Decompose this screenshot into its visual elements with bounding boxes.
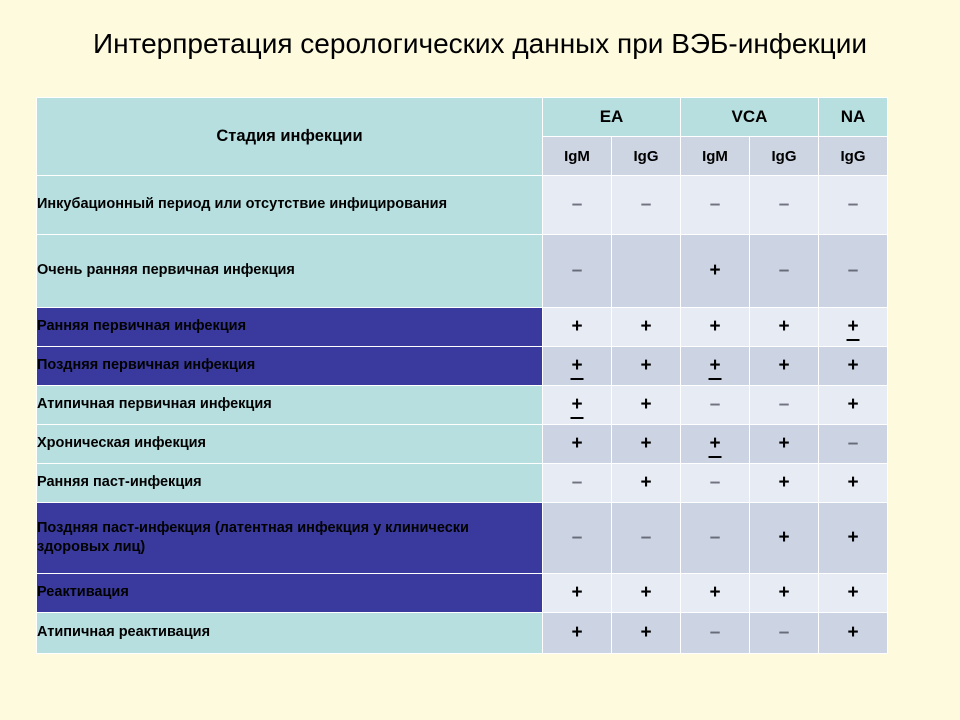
marker-plus-icon: + [640,356,651,375]
marker-plus-minus-icon: + [709,434,720,455]
marker-plus-icon: + [709,261,720,280]
marker-minus-icon: – [710,473,721,492]
marker-plus-icon: + [571,434,582,453]
marker-minus-icon: – [641,528,652,547]
result-cell: + [543,613,611,653]
row-label-stage: Хроническая инфекция [37,425,542,463]
result-cell: – [543,503,611,573]
marker-minus-icon: – [641,195,652,214]
row-label-stage: Очень ранняя первичная инфекция [37,235,542,307]
marker-plus-icon: + [640,434,651,453]
row-label-stage: Атипичная первичная инфекция [37,386,542,424]
table-row: Поздняя паст-инфекция (латентная инфекци… [37,503,887,573]
marker-plus-minus-icon: + [709,356,720,377]
marker-minus-icon: – [572,195,583,214]
marker-plus-icon: + [847,623,858,642]
marker-blank [646,275,647,276]
result-cell: + [819,613,887,653]
result-cell: + [612,464,680,502]
result-cell: + [819,308,887,346]
result-cell: – [750,386,818,424]
result-cell: – [681,386,749,424]
marker-plus-icon: + [847,473,858,492]
result-cell: – [681,176,749,234]
marker-plus-icon: + [640,623,651,642]
marker-plus-icon: + [778,434,789,453]
marker-minus-icon: – [572,473,583,492]
marker-plus-icon: + [640,395,651,414]
result-cell: + [681,235,749,307]
slide-root: Интерпретация серологических данных при … [0,0,960,720]
marker-minus-icon: – [710,195,721,214]
marker-plus-icon: + [778,583,789,602]
result-cell: + [543,574,611,612]
result-cell: + [681,574,749,612]
row-label-stage: Поздняя паст-инфекция (латентная инфекци… [37,503,542,573]
table-row: Атипичная реактивация++––+ [37,613,887,653]
table-header-row-groups: Стадия инфекции EAVCANA [37,98,887,136]
result-cell: – [750,176,818,234]
result-cell: + [750,464,818,502]
result-cell: – [819,235,887,307]
row-label-stage: Ранняя паст-инфекция [37,464,542,502]
marker-minus-icon: – [710,528,721,547]
marker-plus-icon: + [571,583,582,602]
result-cell [612,235,680,307]
marker-plus-icon: + [847,356,858,375]
result-cell: + [750,425,818,463]
table-header: Стадия инфекции EAVCANA IgMIgGIgMIgGIgG [37,98,887,175]
marker-minus-icon: – [710,623,721,642]
result-cell: + [612,425,680,463]
result-cell: – [681,464,749,502]
row-label-stage: Поздняя первичная инфекция [37,347,542,385]
table-row: Очень ранняя первичная инфекция–+–– [37,235,887,307]
marker-plus-icon: + [778,528,789,547]
table-row: Поздняя первичная инфекция+++++ [37,347,887,385]
marker-plus-icon: + [847,395,858,414]
marker-plus-icon: + [571,623,582,642]
marker-minus-icon: – [779,261,790,280]
result-cell: + [750,347,818,385]
marker-plus-icon: + [778,317,789,336]
table-row: Хроническая инфекция++++– [37,425,887,463]
result-cell: + [750,574,818,612]
result-cell: + [612,613,680,653]
marker-plus-icon: + [640,473,651,492]
result-cell: – [681,613,749,653]
marker-plus-icon: + [847,583,858,602]
marker-minus-icon: – [710,395,721,414]
result-cell: + [819,386,887,424]
row-label-stage: Инкубационный период или отсутствие инфи… [37,176,542,234]
marker-minus-icon: – [779,195,790,214]
result-cell: + [819,503,887,573]
result-cell: – [612,176,680,234]
result-cell: + [681,347,749,385]
column-header-stage: Стадия инфекции [37,98,542,175]
result-cell: – [750,613,818,653]
marker-plus-icon: + [778,356,789,375]
result-cell: + [612,308,680,346]
table-row: Ранняя первичная инфекция+++++ [37,308,887,346]
result-cell: – [681,503,749,573]
result-cell: + [543,386,611,424]
marker-minus-icon: – [572,261,583,280]
result-cell: + [612,574,680,612]
serology-table: Стадия инфекции EAVCANA IgMIgGIgMIgGIgG … [36,97,888,654]
column-header-antigen-vca: VCA [681,98,818,136]
marker-plus-icon: + [571,317,582,336]
marker-minus-icon: – [848,195,859,214]
column-header-antigen-na: NA [819,98,887,136]
row-label-stage: Ранняя первичная инфекция [37,308,542,346]
result-cell: + [750,308,818,346]
marker-plus-icon: + [640,317,651,336]
result-cell: + [819,574,887,612]
marker-plus-icon: + [709,317,720,336]
table-row: Атипичная первичная инфекция++––+ [37,386,887,424]
column-header-antibody-4: IgG [819,137,887,175]
page-title: Интерпретация серологических данных при … [60,26,900,61]
column-header-antigen-ea: EA [543,98,680,136]
marker-minus-icon: – [848,261,859,280]
result-cell: + [612,347,680,385]
serology-table-container: Стадия инфекции EAVCANA IgMIgGIgMIgGIgG … [36,97,884,654]
result-cell: – [543,235,611,307]
result-cell: + [750,503,818,573]
row-label-stage: Атипичная реактивация [37,613,542,653]
result-cell: – [612,503,680,573]
row-label-stage: Реактивация [37,574,542,612]
marker-minus-icon: – [848,434,859,453]
result-cell: – [819,425,887,463]
table-body: Инкубационный период или отсутствие инфи… [37,176,887,653]
result-cell: + [543,347,611,385]
marker-plus-minus-icon: + [571,356,582,377]
marker-plus-icon: + [640,583,651,602]
result-cell: + [543,308,611,346]
result-cell: – [543,464,611,502]
marker-plus-minus-icon: + [571,395,582,416]
table-row: Реактивация+++++ [37,574,887,612]
marker-plus-icon: + [709,583,720,602]
marker-plus-icon: + [847,528,858,547]
result-cell: + [819,347,887,385]
column-header-antibody-0: IgM [543,137,611,175]
result-cell: + [681,308,749,346]
column-header-antibody-1: IgG [612,137,680,175]
result-cell: + [681,425,749,463]
result-cell: – [819,176,887,234]
marker-minus-icon: – [779,395,790,414]
table-row: Ранняя паст-инфекция–+–++ [37,464,887,502]
marker-minus-icon: – [779,623,790,642]
marker-plus-icon: + [778,473,789,492]
marker-minus-icon: – [572,528,583,547]
marker-plus-minus-icon: + [847,317,858,338]
result-cell: + [612,386,680,424]
column-header-antibody-2: IgM [681,137,749,175]
column-header-antibody-3: IgG [750,137,818,175]
result-cell: + [819,464,887,502]
table-row: Инкубационный период или отсутствие инфи… [37,176,887,234]
result-cell: + [543,425,611,463]
result-cell: – [543,176,611,234]
result-cell: – [750,235,818,307]
